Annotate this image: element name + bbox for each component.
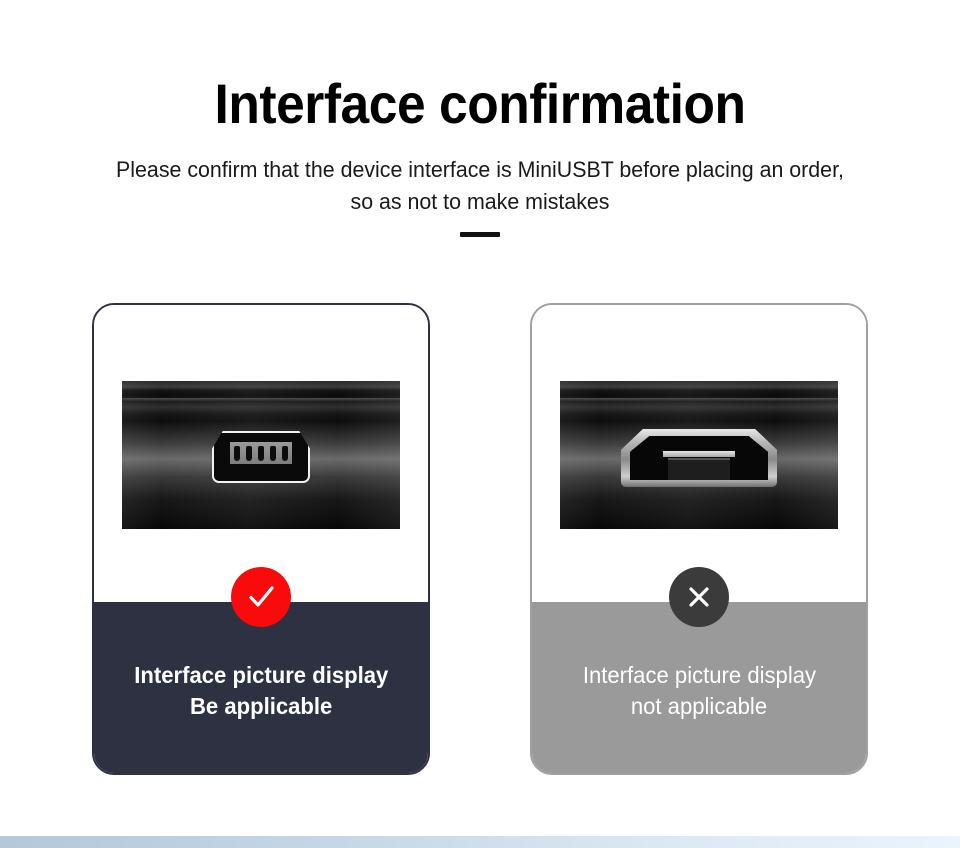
device-seam (122, 398, 400, 401)
cross-icon (669, 567, 729, 627)
comparison-cards: Interface picture display Be applicable (0, 303, 960, 775)
micro-usb-connector-icon (621, 429, 777, 487)
card-not-applicable-photo-area (532, 305, 866, 602)
check-icon (231, 567, 291, 627)
mini-usb-pin (270, 446, 276, 461)
bottom-accent-strip (0, 836, 960, 848)
micro-usb-port-photo (560, 381, 838, 529)
micro-usb-contact-block (668, 458, 730, 480)
micro-usb-contact-bar (663, 451, 735, 457)
card-not-applicable[interactable]: Interface picture display not applicable (530, 303, 868, 775)
page-header: Interface confirmation Please confirm th… (0, 0, 960, 237)
card-not-applicable-label-line-2: not applicable (631, 691, 767, 722)
card-applicable[interactable]: Interface picture display Be applicable (92, 303, 430, 775)
card-applicable-label-panel: Interface picture display Be applicable (94, 602, 428, 773)
mini-usb-pin (234, 446, 240, 461)
mini-usb-pin (258, 446, 264, 461)
mini-usb-connector-icon (212, 431, 310, 483)
mini-usb-pin (246, 446, 252, 461)
device-seam (560, 398, 838, 401)
card-not-applicable-label-panel: Interface picture display not applicable (532, 602, 866, 773)
mini-usb-port-photo (122, 381, 400, 529)
subtitle-line-1: Please confirm that the device interface… (24, 154, 936, 186)
subtitle-line-2: so as not to make mistakes (24, 186, 936, 218)
page-title: Interface confirmation (38, 0, 921, 132)
mini-usb-pin (282, 446, 288, 461)
header-divider (460, 232, 500, 237)
mini-usb-pin-plate (230, 442, 292, 464)
card-not-applicable-label-line-1: Interface picture display (582, 660, 815, 691)
card-applicable-label-line-2: Be applicable (190, 691, 332, 722)
card-applicable-photo-area (94, 305, 428, 602)
micro-usb-cavity (630, 436, 768, 480)
card-applicable-label-line-1: Interface picture display (134, 660, 388, 691)
interface-confirmation-page: Interface confirmation Please confirm th… (0, 0, 960, 848)
page-subtitle: Please confirm that the device interface… (24, 132, 936, 218)
